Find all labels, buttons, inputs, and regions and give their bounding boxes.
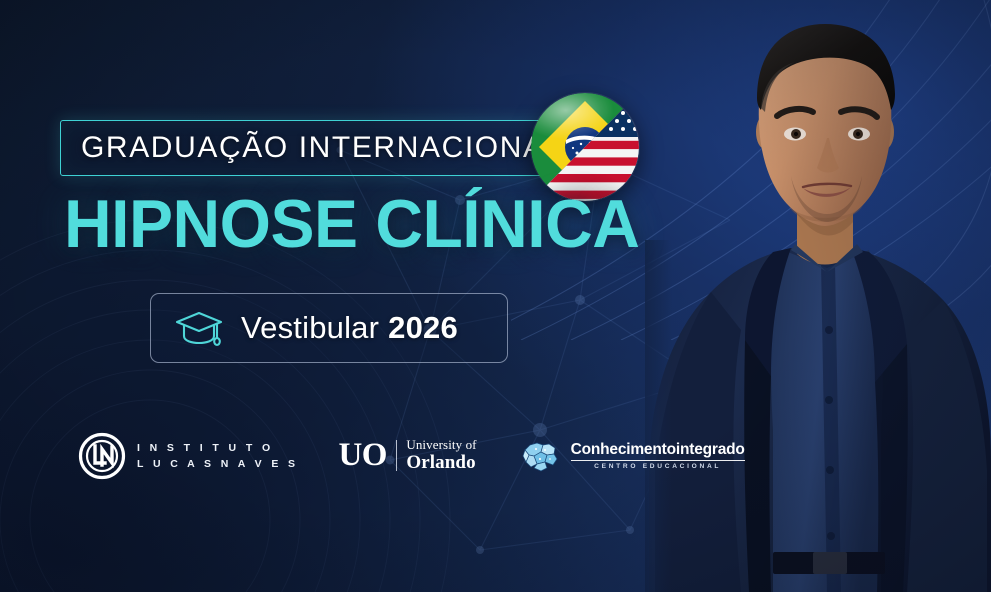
vestibular-year: 2026 <box>388 310 458 346</box>
logo-uo-monogram: UO <box>338 439 387 472</box>
promo-banner: GRADUAÇÃO INTERNACIONAL <box>0 0 991 592</box>
kicker-label: GRADUAÇÃO INTERNACIONAL <box>81 131 563 165</box>
logo-ci-name: Conhecimentointegrado <box>571 442 745 461</box>
page-title: HIPNOSE CLÍNICA <box>64 190 639 259</box>
brazil-usa-flag-badge-icon <box>531 93 639 201</box>
graduation-cap-icon <box>174 308 224 348</box>
logo-ci-tagline: CENTRO EDUCACIONAL <box>571 463 745 470</box>
presenter-photo <box>645 0 991 592</box>
logo-uo-line1: University of <box>406 438 476 453</box>
logo-university-of-orlando[interactable]: UO University of Orlando <box>338 438 476 473</box>
logo-instituto-lucas-naves[interactable]: I N S T I T U T O L U C A S N A V E S <box>78 432 298 480</box>
kicker-badge: GRADUAÇÃO INTERNACIONAL <box>60 120 582 176</box>
decorative-arcs <box>0 210 460 592</box>
ln-monogram-icon <box>78 432 126 480</box>
logo-uo-line2: Orlando <box>406 453 476 474</box>
logo-uo-divider <box>396 440 397 471</box>
brain-icon <box>521 439 561 473</box>
logo-conhecimento-integrado[interactable]: Conhecimentointegrado CENTRO EDUCACIONAL <box>521 439 745 473</box>
partner-logo-strip: I N S T I T U T O L U C A S N A V E S UO… <box>78 432 745 480</box>
vestibular-badge[interactable]: Vestibular 2026 <box>150 293 508 363</box>
logo-iln-line2: L U C A S N A V E S <box>137 458 298 470</box>
logo-iln-line1: I N S T I T U T O <box>137 442 298 454</box>
vestibular-label: Vestibular <box>241 310 379 346</box>
